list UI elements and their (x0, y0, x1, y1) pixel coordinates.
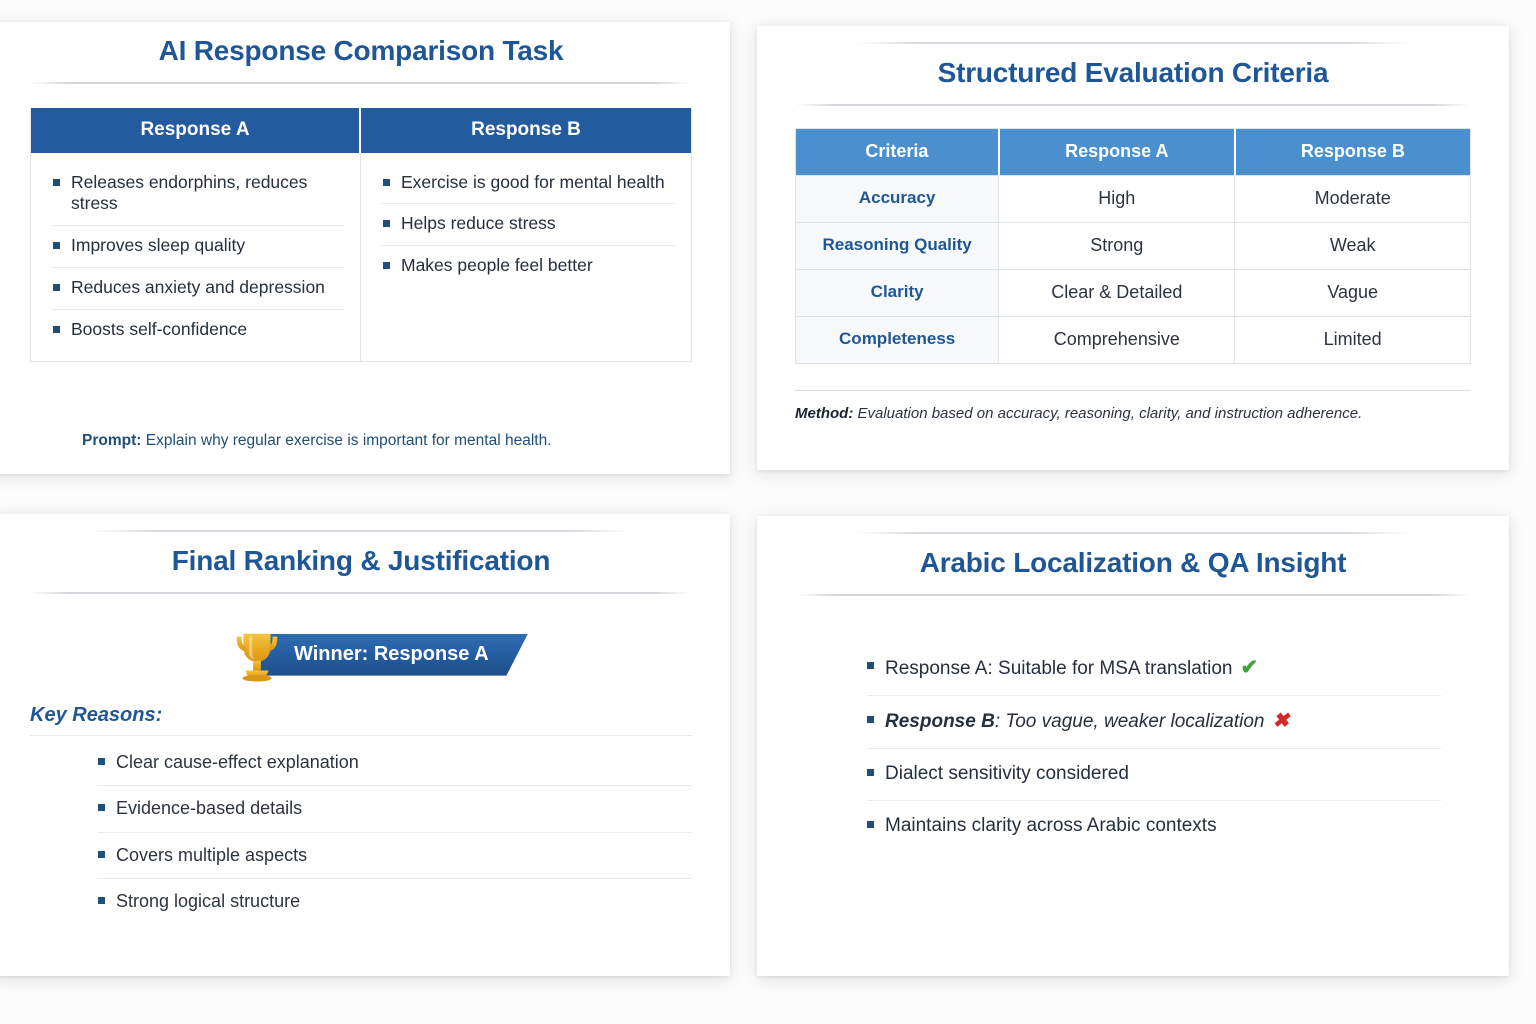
top-divider (90, 530, 632, 532)
list-item-label: Exercise is good for mental health (401, 172, 665, 194)
square-bullet-icon (53, 179, 60, 186)
winner-section: Winner: Response A (30, 628, 692, 688)
cell-response-a: Strong (999, 222, 1235, 269)
list-item-label: Maintains clarity across Arabic contexts (885, 814, 1217, 838)
square-bullet-icon (383, 262, 390, 269)
square-bullet-icon (53, 242, 60, 249)
cell-criteria: Clarity (796, 269, 999, 316)
check-icon: ✔ (1240, 656, 1258, 679)
list-item: Response A: Suitable for MSA translation… (867, 642, 1441, 696)
square-bullet-icon (98, 897, 105, 904)
square-bullet-icon (383, 179, 390, 186)
slide-canvas: AI Response Comparison Task Response A R… (0, 0, 1536, 1024)
list-item: Helps reduce stress (381, 204, 675, 246)
list-item: Makes people feel better (381, 246, 675, 287)
square-bullet-icon (867, 716, 874, 723)
table-row: Clarity Clear & Detailed Vague (796, 269, 1471, 316)
prompt-label: Prompt: (82, 432, 141, 449)
page-title-comparison: AI Response Comparison Task (30, 34, 692, 68)
list-item: Reduces anxiety and depression (51, 268, 344, 310)
list-item: Maintains clarity across Arabic contexts (867, 801, 1441, 852)
localization-list: Response A: Suitable for MSA translation… (795, 642, 1471, 852)
list-item: Evidence-based details (98, 786, 692, 833)
page-title-localization: Arabic Localization & QA Insight (795, 546, 1471, 580)
list-item: Clear cause-effect explanation (98, 740, 692, 787)
cell-criteria: Reasoning Quality (796, 222, 999, 269)
list-item-label: Strong logical structure (116, 890, 300, 913)
cell-response-a: High (999, 175, 1235, 222)
comparison-table-body: Releases endorphins, reduces stress Impr… (31, 153, 691, 361)
comparison-column-b: Exercise is good for mental health Helps… (361, 153, 691, 361)
list-item-label: Releases endorphins, reduces stress (71, 172, 342, 216)
column-header-response-a: Response A (999, 128, 1235, 175)
column-header-response-a: Response A (31, 108, 361, 153)
square-bullet-icon (98, 804, 105, 811)
card-final-ranking: Final Ranking & Justification Winner: Re… (0, 514, 730, 976)
page-title-criteria: Structured Evaluation Criteria (795, 56, 1471, 90)
winner-banner: Winner: Response A (258, 634, 528, 676)
list-item-label: Helps reduce stress (401, 213, 556, 235)
square-bullet-icon (867, 662, 874, 669)
cell-response-b: Vague (1235, 269, 1471, 316)
method-label: Method: (795, 405, 853, 422)
cell-response-b: Limited (1235, 316, 1471, 363)
column-header-response-b: Response B (1235, 128, 1471, 175)
cell-criteria: Accuracy (796, 175, 999, 222)
list-item: Exercise is good for mental health (381, 163, 675, 205)
square-bullet-icon (53, 284, 60, 291)
table-row: Completeness Comprehensive Limited (796, 316, 1471, 363)
prompt-text: Explain why regular exercise is importan… (146, 432, 552, 449)
list-item-label: Covers multiple aspects (116, 844, 307, 867)
title-divider (30, 82, 692, 84)
square-bullet-icon (98, 758, 105, 765)
key-reasons-list: Clear cause-effect explanation Evidence-… (30, 740, 692, 925)
list-item-label: Response B: Too vague, weaker localizati… (885, 709, 1289, 734)
column-header-response-b: Response B (361, 108, 691, 153)
list-item-label: Response A: Suitable for MSA translation… (885, 655, 1258, 681)
square-bullet-icon (867, 769, 874, 776)
cell-criteria: Completeness (796, 316, 999, 363)
table-row: Accuracy High Moderate (796, 175, 1471, 222)
method-divider (795, 390, 1471, 391)
method-text: Evaluation based on accuracy, reasoning,… (858, 405, 1363, 422)
list-item: Covers multiple aspects (98, 833, 692, 880)
card-ai-response-comparison: AI Response Comparison Task Response A R… (0, 22, 730, 474)
comparison-column-a: Releases endorphins, reduces stress Impr… (31, 153, 361, 361)
table-row: Reasoning Quality Strong Weak (796, 222, 1471, 269)
card-arabic-localization: Arabic Localization & QA Insight Respons… (757, 516, 1509, 976)
top-divider (855, 532, 1411, 534)
list-item-label: Improves sleep quality (71, 235, 245, 257)
comparison-table: Response A Response B Releases endorphin… (30, 108, 692, 362)
list-item: Response B: Too vague, weaker localizati… (867, 696, 1441, 749)
list-item: Dialect sensitivity considered (867, 749, 1441, 801)
prompt-note: Prompt: Explain why regular exercise is … (82, 432, 552, 450)
square-bullet-icon (867, 821, 874, 828)
comparison-table-header: Response A Response B (31, 108, 691, 153)
list-item-label: Reduces anxiety and depression (71, 277, 325, 299)
list-item-label: Boosts self-confidence (71, 319, 247, 341)
list-item-text: Response A: Suitable for MSA translation (885, 658, 1232, 679)
list-item: Releases endorphins, reduces stress (51, 163, 344, 227)
top-divider (855, 42, 1411, 44)
cell-response-b: Weak (1235, 222, 1471, 269)
square-bullet-icon (98, 851, 105, 858)
list-item: Boosts self-confidence (51, 310, 344, 351)
page-title-ranking: Final Ranking & Justification (30, 544, 692, 578)
cell-response-b: Moderate (1235, 175, 1471, 222)
criteria-table: Criteria Response A Response B Accuracy … (795, 128, 1471, 364)
list-item: Improves sleep quality (51, 226, 344, 268)
list-item-text: : Too vague, weaker localization (995, 711, 1265, 732)
list-item-lead: Response B (885, 711, 995, 732)
trophy-icon (226, 624, 288, 686)
table-header-row: Criteria Response A Response B (796, 128, 1471, 175)
list-item-label: Dialect sensitivity considered (885, 762, 1129, 786)
square-bullet-icon (383, 220, 390, 227)
title-divider (795, 104, 1471, 106)
title-divider (795, 594, 1471, 596)
square-bullet-icon (53, 326, 60, 333)
winner-banner-label: Winner: Response A (294, 643, 489, 666)
list-item-label: Clear cause-effect explanation (116, 751, 359, 774)
list-item-label: Evidence-based details (116, 797, 302, 820)
key-reasons-label: Key Reasons: (30, 704, 692, 727)
cell-response-a: Comprehensive (999, 316, 1235, 363)
title-divider (30, 592, 692, 594)
key-reasons-divider (30, 735, 692, 736)
list-item: Strong logical structure (98, 879, 692, 925)
cell-response-a: Clear & Detailed (999, 269, 1235, 316)
card-structured-evaluation-criteria: Structured Evaluation Criteria Criteria … (757, 26, 1509, 470)
cross-icon: ✖ (1273, 710, 1290, 732)
column-header-criteria: Criteria (796, 128, 999, 175)
list-item-label: Makes people feel better (401, 255, 593, 277)
method-note: Method: Evaluation based on accuracy, re… (795, 405, 1471, 422)
